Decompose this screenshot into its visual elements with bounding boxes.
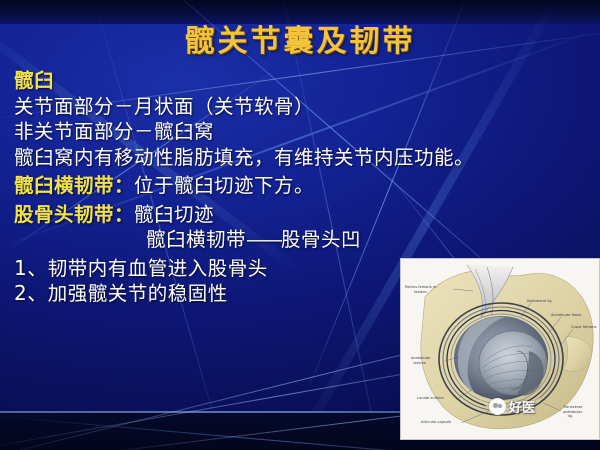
figure-label-lunate-surface: Lunate surface bbox=[417, 396, 444, 401]
sub-line-text: 髋臼横韧带 bbox=[146, 228, 246, 251]
content-line-2: 非关节面部分－髋臼窝 bbox=[14, 119, 600, 145]
wechat-icon bbox=[489, 398, 506, 415]
watermark-text: 好医 bbox=[509, 397, 535, 416]
figure-label-rectus-femoris: Rectus femoris m. tendon bbox=[405, 285, 438, 294]
term-row-2: 股骨头韧带：髋臼切迹 bbox=[14, 202, 600, 228]
numbered-marker-2: 2、 bbox=[14, 281, 48, 305]
figure-label-articular-capsule: Articular capsule bbox=[421, 420, 451, 425]
numbered-text-1: 韧带内有血管进入股骨头 bbox=[48, 257, 268, 280]
figure-label-transverse-acetabular: Transverse acetabular lig. bbox=[563, 405, 582, 419]
sub-line-target: 股骨头凹 bbox=[281, 228, 361, 251]
term-label-1: 髋臼横韧带： bbox=[14, 174, 134, 197]
numbered-text-2: 加强髋关节的稳固性 bbox=[48, 282, 228, 305]
watermark: 好医 bbox=[489, 397, 535, 416]
figure-label-caput-femoris: Caput femoris bbox=[571, 325, 596, 330]
page-title: 髋关节囊及韧带 bbox=[0, 16, 600, 60]
content-heading: 髋臼 bbox=[14, 68, 600, 94]
content-line-1: 关节面部分－月状面（关节软骨） bbox=[14, 94, 600, 120]
presentation-slide: 髋关节囊及韧带 髋臼 关节面部分－月状面（关节软骨） 非关节面部分－髋臼窝 髋臼… bbox=[0, 0, 600, 450]
figure-label-acetabular-fossa: Acetabular fossa bbox=[551, 313, 581, 318]
term-desc-2: 髋臼切迹 bbox=[134, 203, 214, 226]
term-label-2: 股骨头韧带： bbox=[14, 203, 134, 226]
content-line-3: 髋臼窝内有移动性脂肪填充，有维持关节内压功能。 bbox=[14, 145, 600, 171]
figure-label-iliofemoral: Iliofemoral lig. bbox=[527, 299, 553, 304]
term-row-1: 髋臼横韧带：位于髋臼切迹下方。 bbox=[14, 173, 600, 199]
term-desc-1: 位于髋臼切迹下方。 bbox=[134, 174, 314, 197]
sub-line-dash: —— bbox=[246, 228, 281, 251]
numbered-marker-1: 1、 bbox=[14, 256, 48, 280]
figure-label-acetabular-labrum: Acetabular labrum bbox=[411, 356, 430, 365]
sub-line: 髋臼横韧带——股骨头凹 bbox=[14, 227, 600, 253]
anatomy-figure: Rectus femoris m. tendon Iliofemoral lig… bbox=[400, 258, 600, 440]
